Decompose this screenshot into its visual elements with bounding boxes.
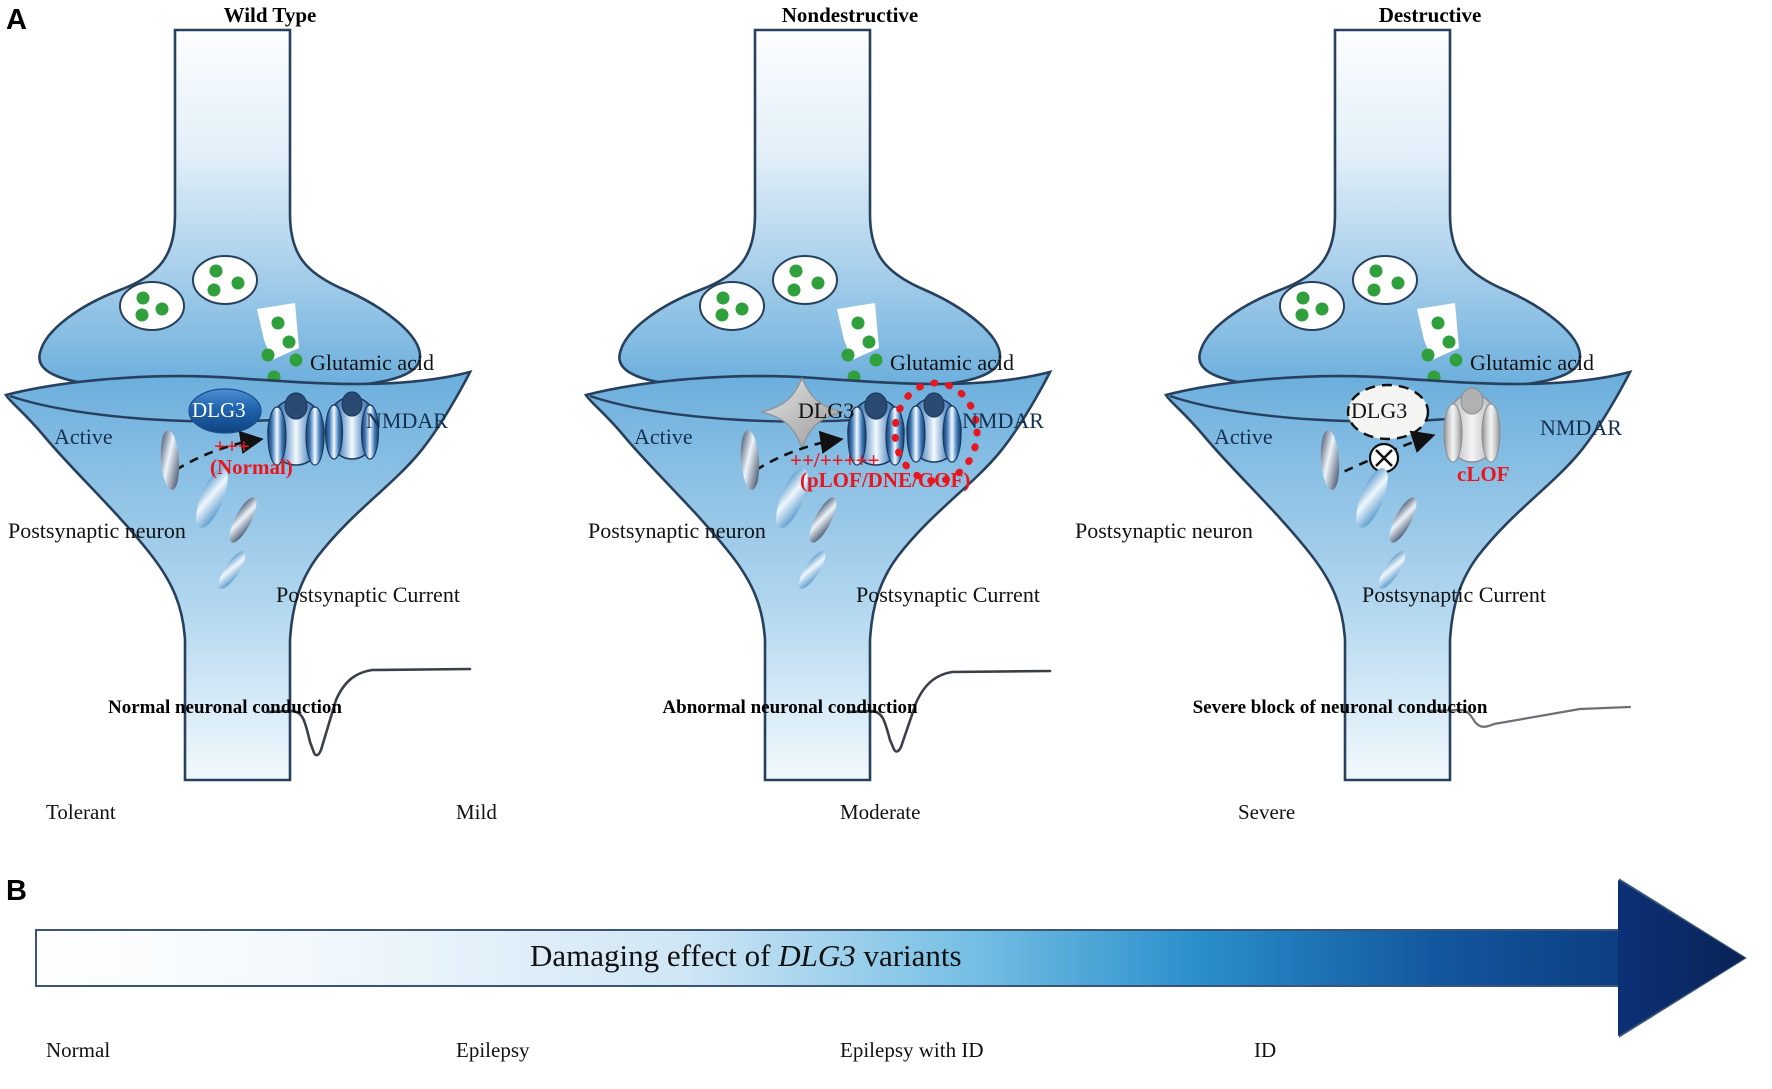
glutamate-label-1: Glutamic acid: [310, 350, 434, 376]
postsynaptic-neuron-label-1: Postsynaptic neuron: [8, 518, 186, 544]
postsynaptic-neuron-label-2: Postsynaptic neuron: [588, 518, 766, 544]
figure-root: A B Wild Type Nondestructive Destructive…: [0, 0, 1772, 1089]
column-title-wild-type: Wild Type: [120, 3, 420, 28]
panel-letter-a: A: [6, 4, 27, 37]
vesicle: [700, 282, 764, 330]
glutamate-label-3: Glutamic acid: [1470, 350, 1594, 376]
column-title-destructive: Destructive: [1280, 3, 1580, 28]
nmdar-label-3: NMDAR: [1540, 415, 1622, 441]
dlg3-label-2: DLG3: [798, 398, 854, 424]
mechanism-2: (pLOF/DNE/GOF): [800, 468, 970, 493]
presynaptic-terminal-1: [39, 30, 420, 388]
severity-bottom-label-epilepsy: Epilepsy: [456, 1038, 530, 1063]
presynaptic-terminal-2: [619, 30, 1000, 388]
severity-bottom-label-normal: Normal: [46, 1038, 110, 1063]
nmdar-label-1: NMDAR: [366, 408, 448, 434]
vesicle: [773, 256, 837, 304]
severity-top-label-moderate: Moderate: [840, 800, 920, 825]
mechanism-3: cLOF: [1457, 462, 1510, 487]
damage-gradient-text: Damaging effect of DLG3 variants: [530, 938, 962, 974]
column-title-nondestructive: Nondestructive: [700, 3, 1000, 28]
vesicle: [1353, 256, 1417, 304]
organelle: [794, 548, 830, 593]
epsc-trace-1: [268, 655, 314, 735]
figure-artwork: [0, 0, 1772, 1089]
severity-bottom-label-id: ID: [1254, 1038, 1276, 1063]
caption-1: Normal neuronal conduction: [55, 697, 395, 719]
severity-bottom-label-epilepsy-id: Epilepsy with ID: [840, 1038, 983, 1063]
damage-text-prefix: Damaging effect of: [530, 938, 778, 973]
organelle: [805, 494, 842, 546]
mechanism-1: (Normal): [210, 455, 293, 480]
vesicle: [193, 256, 257, 304]
organelle: [214, 548, 250, 593]
glutamate-label-2: Glutamic acid: [890, 350, 1014, 376]
severity-top-label-mild: Mild: [456, 800, 497, 825]
nmdar-receptor-2b: [907, 393, 961, 462]
caption-3: Severe block of neuronal conduction: [1125, 697, 1555, 719]
organelle: [159, 429, 181, 490]
organelle: [1350, 464, 1394, 532]
organelle: [225, 494, 262, 546]
signal-arrow-3: [1330, 437, 1428, 478]
blocked-icon: [1370, 444, 1398, 472]
postsynaptic-neuron-label-3: Postsynaptic neuron: [1075, 518, 1253, 544]
current-label-1: Postsynaptic Current: [276, 582, 460, 608]
severity-top-label-severe: Severe: [1238, 800, 1295, 825]
fusing-vesicle: [257, 303, 299, 360]
active-label-2: Active: [634, 424, 693, 450]
caption-2: Abnormal neuronal conduction: [610, 697, 970, 719]
dlg3-label-3: DLG3: [1351, 398, 1407, 424]
organelle: [739, 429, 761, 490]
organelle: [1319, 429, 1341, 490]
presynaptic-terminal-3: [1199, 30, 1580, 388]
vesicle: [120, 282, 184, 330]
active-label-3: Active: [1214, 424, 1273, 450]
current-label-2: Postsynaptic Current: [856, 582, 1040, 608]
fusing-vesicle: [1417, 303, 1459, 360]
damage-text-gene: DLG3: [778, 938, 856, 973]
fusing-vesicle: [837, 303, 879, 360]
organelle: [1385, 494, 1422, 546]
severity-top-label-tolerant: Tolerant: [46, 800, 116, 825]
dlg3-label-1: DLG3: [192, 398, 246, 423]
active-label-1: Active: [54, 424, 113, 450]
panel-letter-b: B: [6, 875, 27, 908]
damage-text-suffix: variants: [856, 938, 962, 973]
nmdar-receptor-3: [1444, 388, 1500, 462]
nmdar-label-2: NMDAR: [962, 408, 1044, 434]
vesicle: [1280, 282, 1344, 330]
current-label-3: Postsynaptic Current: [1362, 582, 1546, 608]
